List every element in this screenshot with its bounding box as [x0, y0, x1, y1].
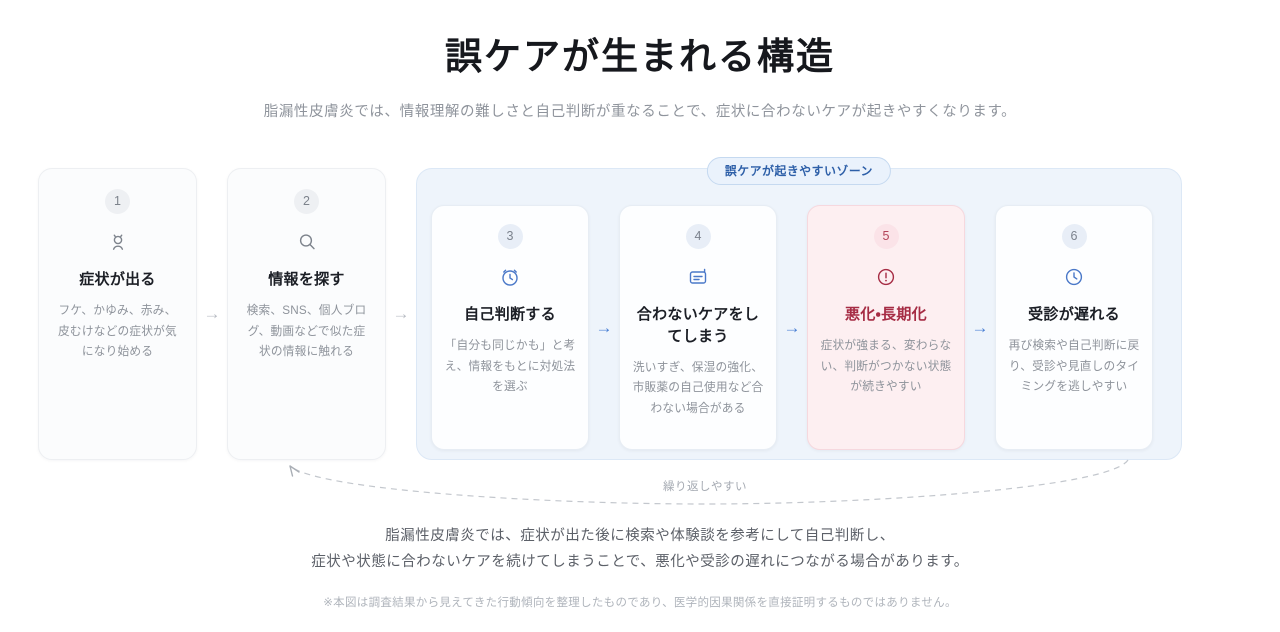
- footer-line-2: 症状や状態に合わないケアを続けてしまうことで、悪化や受診の遅れにつながる場合があ…: [0, 550, 1280, 576]
- flow-arrow-3-4: →: [589, 205, 619, 450]
- step-card-3[interactable]: 3 自己判断する 「自分も同じかも」と考え、情報をもとに対処法を選ぶ: [431, 205, 589, 450]
- footer-line-1: 脂漏性皮膚炎では、症状が出た後に検索や体験談を参考にして自己判断し、: [0, 524, 1280, 550]
- step-number-badge: 2: [294, 189, 319, 214]
- error-care-zone: 誤ケアが起きやすいゾーン 3 自己判断する 「自分も同じかも」と考え、情報をもと…: [416, 168, 1182, 460]
- search-icon: [295, 229, 319, 255]
- page-title: 誤ケアが生まれる構造: [0, 34, 1280, 80]
- note-lines-icon: [686, 264, 710, 290]
- footer: 脂漏性皮膚炎では、症状が出た後に検索や体験談を参考にして自己判断し、 症状や状態…: [0, 524, 1280, 610]
- clock-icon: [1062, 264, 1086, 290]
- flow-arrow-1-2: →: [197, 168, 227, 460]
- zone-badge: 誤ケアが起きやすいゾーン: [707, 157, 891, 185]
- footer-disclaimer: ※本図は調査結果から見えてきた行動傾向を整理したものであり、医学的因果関係を直接…: [0, 594, 1280, 610]
- flow-arrow-5-6: →: [965, 205, 995, 450]
- step-card-6[interactable]: 6 受診が遅れる 再び検索や自己判断に戻り、受診や見直しのタイミングを逃しやすい: [995, 205, 1153, 450]
- flow-arrow-4-5: →: [777, 205, 807, 450]
- step-description: 検索、SNS、個人ブログ、動画などで似た症状の情報に触れる: [242, 301, 371, 363]
- step-number-badge: 3: [498, 224, 523, 249]
- loop-back-connector: 繰り返しやすい: [270, 458, 1140, 514]
- person-icon: [106, 229, 130, 255]
- step-number-badge: 1: [105, 189, 130, 214]
- step-card-4[interactable]: 4 合わないケアをしてしまう 洗いすぎ、保湿の強化、市販薬の自己使用など合わない…: [619, 205, 777, 450]
- step-title: 情報を探す: [268, 269, 345, 291]
- step-description: 症状が強まる、変わらない、判断がつかない状態が続きやすい: [820, 336, 952, 398]
- page-subtitle: 脂漏性皮膚炎では、情報理解の難しさと自己判断が重なることで、症状に合わないケアが…: [0, 102, 1280, 124]
- exclamation-circle-icon: [874, 264, 898, 290]
- step-card-1[interactable]: 1 症状が出る フケ、かゆみ、赤み、皮むけなどの症状が気になり始める: [38, 168, 197, 460]
- step-card-2[interactable]: 2 情報を探す 検索、SNS、個人ブログ、動画などで似た症状の情報に触れる: [227, 168, 386, 460]
- step-description: 洗いすぎ、保湿の強化、市販薬の自己使用など合わない場合がある: [632, 358, 764, 420]
- flow-diagram: 1 症状が出る フケ、かゆみ、赤み、皮むけなどの症状が気になり始める → 2: [38, 168, 1186, 463]
- step-number-badge: 6: [1062, 224, 1087, 249]
- step-card-5[interactable]: 5 悪化・長期化 症状が強まる、変わらない、判断がつかない状態が続きやすい: [807, 205, 965, 450]
- alarm-clock-icon: [498, 264, 522, 290]
- step-description: 「自分も同じかも」と考え、情報をもとに対処法を選ぶ: [444, 336, 576, 398]
- flow-arrow-2-3: →: [386, 168, 416, 460]
- step-title: 悪化・長期化: [845, 304, 927, 326]
- step-number-badge: 5: [874, 224, 899, 249]
- header: 誤ケアが生まれる構造 脂漏性皮膚炎では、情報理解の難しさと自己判断が重なることで…: [0, 0, 1280, 124]
- step-number-badge: 4: [686, 224, 711, 249]
- step-title: 自己判断する: [464, 304, 556, 326]
- step-title: 受診が遅れる: [1028, 304, 1120, 326]
- step-title: 症状が出る: [79, 269, 156, 291]
- step-title: 合わないケアをしてしまう: [632, 304, 764, 348]
- step-description: フケ、かゆみ、赤み、皮むけなどの症状が気になり始める: [53, 301, 182, 363]
- loop-label: 繰り返しやすい: [656, 478, 754, 494]
- infographic-page: 誤ケアが生まれる構造 脂漏性皮膚炎では、情報理解の難しさと自己判断が重なることで…: [0, 0, 1280, 632]
- step-description: 再び検索や自己判断に戻り、受診や見直しのタイミングを逃しやすい: [1008, 336, 1140, 398]
